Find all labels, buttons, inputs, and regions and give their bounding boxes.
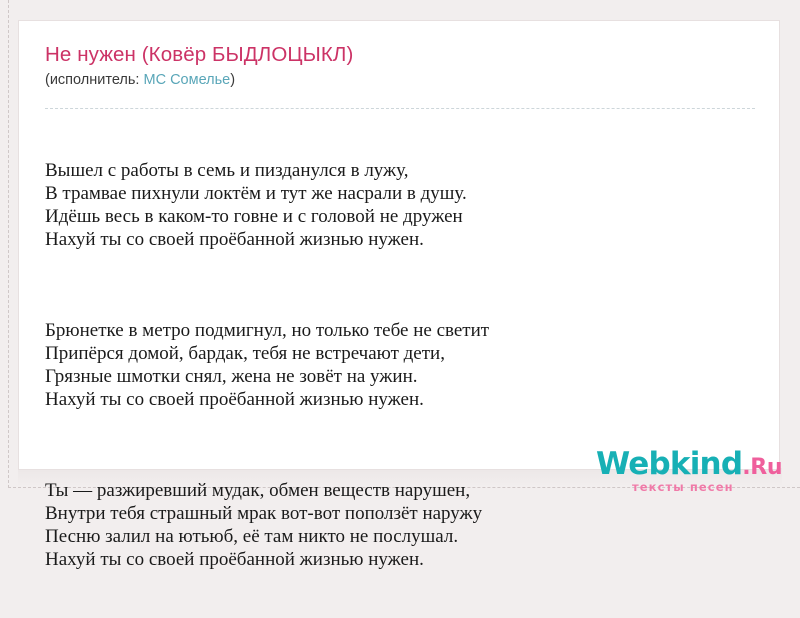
lyrics-card: Не нужен (Ковёр БЫДЛОЦЫКЛ) (исполнитель:… xyxy=(18,20,780,470)
lyrics-stanza: Вышел с работы в семь и пизданулся в луж… xyxy=(45,160,755,252)
artist-prefix-label: (исполнитель: xyxy=(45,72,143,88)
logo-main-text: Webkind xyxy=(596,446,742,482)
outer-dashed-guide-left xyxy=(8,0,9,488)
artist-suffix-label: ) xyxy=(230,72,235,88)
header-divider xyxy=(45,108,755,109)
site-logo[interactable]: Webkind.Ru тексты песен xyxy=(596,449,796,497)
page-background: Не нужен (Ковёр БЫДЛОЦЫКЛ) (исполнитель:… xyxy=(0,0,800,600)
logo-tld-text: .Ru xyxy=(742,455,782,480)
artist-link[interactable]: МС Сомелье xyxy=(143,72,230,88)
artist-line: (исполнитель: МС Сомелье) xyxy=(45,72,759,88)
lyrics-text: Вышел с работы в семь и пизданулся в луж… xyxy=(45,114,755,618)
page-title: Не нужен (Ковёр БЫДЛОЦЫКЛ) xyxy=(45,43,759,67)
lyrics-stanza: Брюнетке в метро подмигнул, но только те… xyxy=(45,320,755,412)
song-header: Не нужен (Ковёр БЫДЛОЦЫКЛ) (исполнитель:… xyxy=(45,43,759,88)
logo-wordmark: Webkind.Ru xyxy=(596,449,796,483)
